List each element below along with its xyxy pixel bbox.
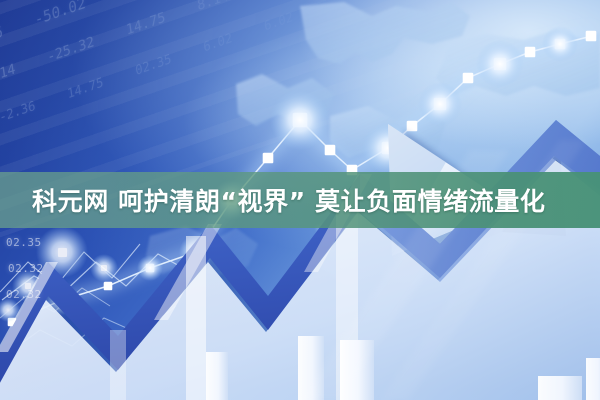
headline-banner: 科元网 呵护清朗“视界” 莫让负面情绪流量化 xyxy=(0,172,600,228)
ribbon-pillar-c xyxy=(110,330,126,400)
bar-1 xyxy=(206,352,228,400)
ribbon-pillar-a xyxy=(186,236,206,400)
headline-text: 科元网 呵护清朗“视界” 莫让负面情绪流量化 xyxy=(0,182,545,218)
banner-graphic: -50.02-45.02-45.02-02.36-50.0221.02-45.0… xyxy=(0,0,600,400)
bar-5 xyxy=(586,358,600,400)
bar-4 xyxy=(538,376,582,400)
